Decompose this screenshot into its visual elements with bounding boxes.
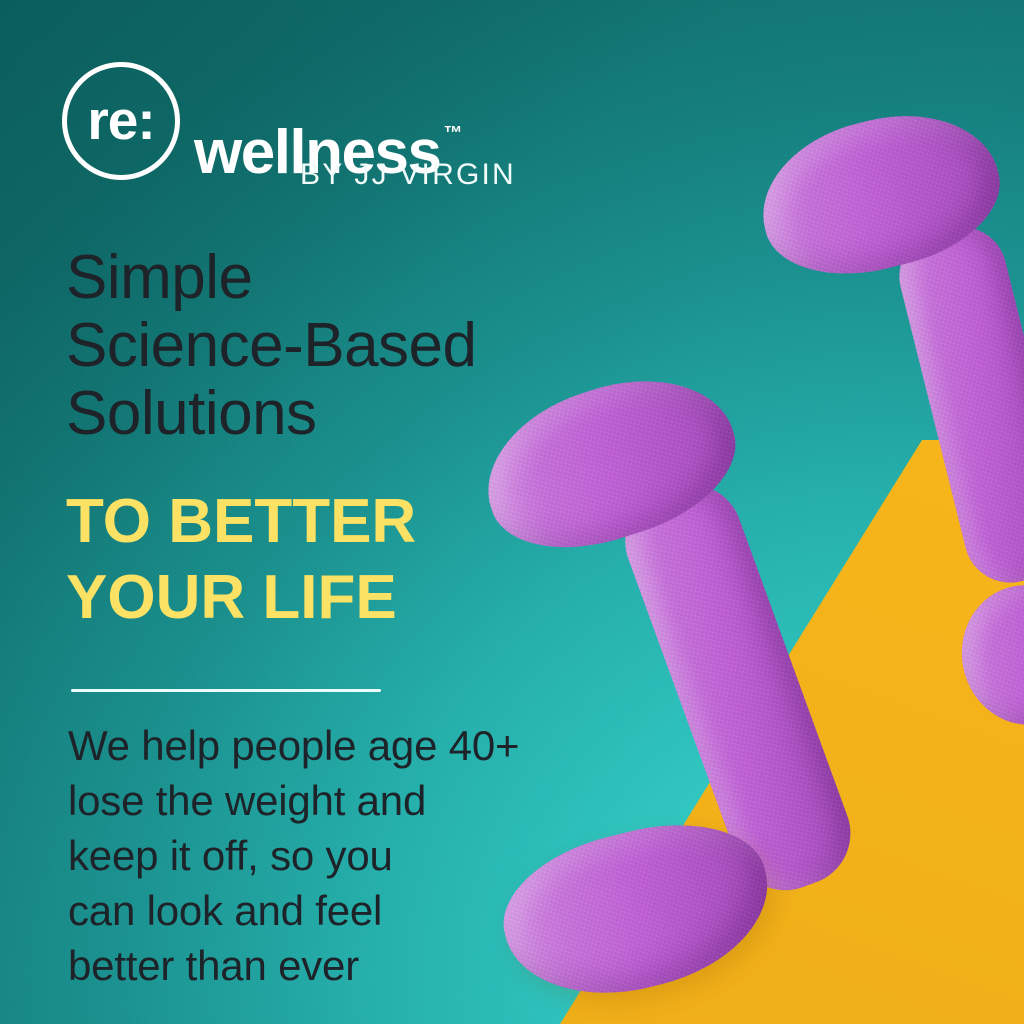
headline-line-1: Simple — [66, 244, 477, 312]
body-line-2: lose the weight and — [68, 773, 519, 828]
headline-line-2: Science-Based — [66, 312, 477, 380]
subheadline-line-1: TO BETTER — [66, 484, 416, 560]
headline-line-3: Solutions — [66, 380, 477, 448]
page-title: Simple Science-Based Solutions — [66, 244, 477, 449]
promotional-poster: re: wellness ™ BY JJ VIRGIN Simple Scien… — [0, 0, 1024, 1024]
sub-headline: TO BETTER YOUR LIFE — [66, 484, 416, 635]
divider — [71, 689, 381, 692]
brand-byline: BY JJ VIRGIN — [300, 158, 516, 192]
trademark-symbol: ™ — [443, 124, 462, 143]
brand-name-wrap: wellness ™ — [194, 90, 462, 152]
re-mark-text: re: — [87, 93, 154, 148]
body-copy: We help people age 40+ lose the weight a… — [68, 718, 519, 993]
content-layer: re: wellness ™ BY JJ VIRGIN Simple Scien… — [0, 0, 1024, 1024]
body-line-1: We help people age 40+ — [68, 718, 519, 773]
re-circle-icon: re: — [62, 62, 180, 180]
body-line-3: keep it off, so you — [68, 828, 519, 883]
body-line-4: can look and feel — [68, 883, 519, 938]
body-line-5: better than ever — [68, 938, 519, 993]
subheadline-line-2: YOUR LIFE — [66, 560, 416, 636]
